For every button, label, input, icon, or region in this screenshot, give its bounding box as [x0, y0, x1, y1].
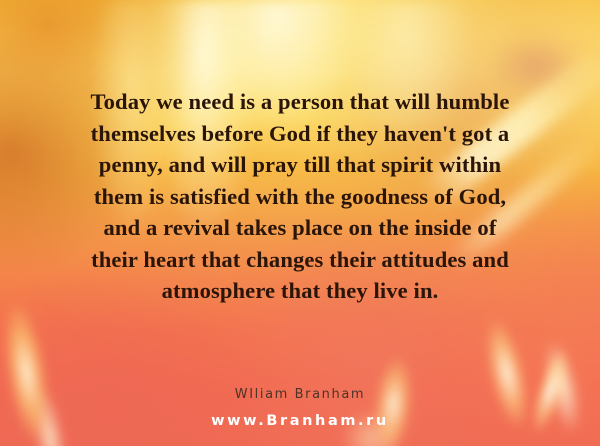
website-url: www.Branham.ru	[0, 413, 600, 429]
quote-author: WIliam Branham	[0, 387, 600, 402]
quote-line: themselves before God if they haven't go…	[24, 118, 576, 150]
quote-line: them is satisfied with the goodness of G…	[24, 181, 576, 213]
quote-poster: Today we need is a person that will humb…	[0, 0, 600, 446]
quote-line: atmosphere that they live in.	[24, 275, 576, 307]
quote-line: penny, and will pray till that spirit wi…	[24, 149, 576, 181]
quote-text-block: Today we need is a person that will humb…	[24, 86, 576, 307]
quote-line: Today we need is a person that will humb…	[24, 86, 576, 118]
quote-line: their heart that changes their attitudes…	[24, 244, 576, 276]
quote-line: and a revival takes place on the inside …	[24, 212, 576, 244]
